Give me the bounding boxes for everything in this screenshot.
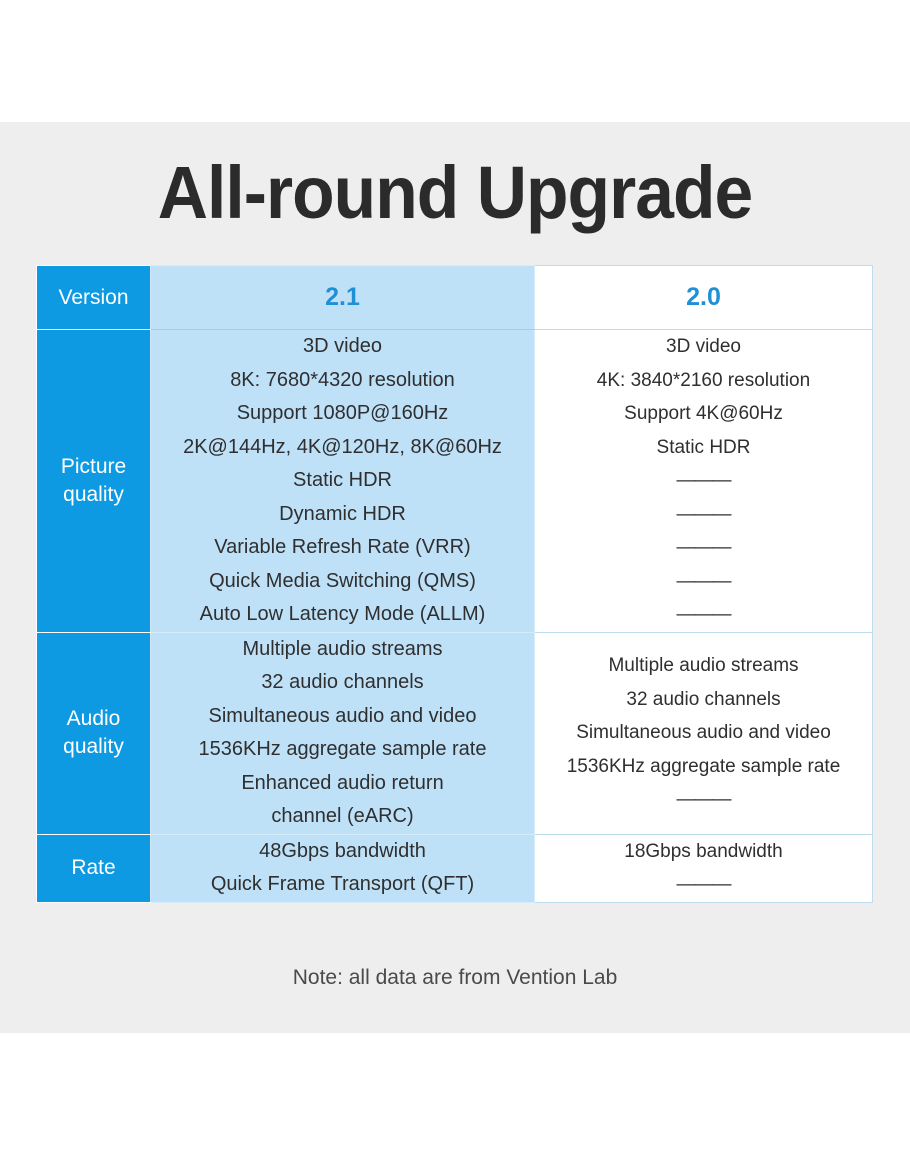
table-row: Audio quality Multiple audio streams 32 … (37, 632, 873, 834)
feature-line-empty: ——— (535, 868, 872, 902)
cell-picture-quality-v21: 3D video 8K: 7680*4320 resolution Suppor… (151, 330, 535, 633)
table-header-version-label: Version (37, 266, 151, 330)
table-header-v20: 2.0 (535, 266, 873, 330)
cell-rate-v21: 48Gbps bandwidth Quick Frame Transport (… (151, 834, 535, 902)
feature-line: Support 4K@60Hz (535, 397, 872, 431)
feature-line: Auto Low Latency Mode (ALLM) (151, 598, 534, 632)
feature-line: 3D video (535, 330, 872, 364)
row-label-line-1: Rate (37, 854, 150, 882)
feature-line-empty: ——— (535, 783, 872, 817)
feature-line: Dynamic HDR (151, 498, 534, 532)
feature-line: Support 1080P@160Hz (151, 397, 534, 431)
feature-line: 32 audio channels (535, 683, 872, 717)
row-label-audio-quality: Audio quality (37, 632, 151, 834)
row-label-picture-quality: Picture quality (37, 330, 151, 633)
table-header-v21: 2.1 (151, 266, 535, 330)
page-root: All-round Upgrade Version 2.1 2.0 Pictur… (0, 0, 910, 1155)
cell-audio-quality-v20: Multiple audio streams 32 audio channels… (535, 632, 873, 834)
feature-line: Simultaneous audio and video (151, 700, 534, 734)
feature-line: 32 audio channels (151, 666, 534, 700)
row-label-line-2: quality (37, 481, 150, 509)
feature-line: 1536KHz aggregate sample rate (151, 733, 534, 767)
feature-line: 2K@144Hz, 4K@120Hz, 8K@60Hz (151, 431, 534, 465)
feature-line: 18Gbps bandwidth (535, 835, 872, 869)
feature-line: Static HDR (151, 464, 534, 498)
feature-line: Multiple audio streams (535, 649, 872, 683)
feature-line: 1536KHz aggregate sample rate (535, 750, 872, 784)
feature-line: channel (eARC) (151, 800, 534, 834)
feature-line-empty: ——— (535, 598, 872, 632)
feature-line-empty: ——— (535, 498, 872, 532)
row-label-line-2: quality (37, 733, 150, 761)
feature-line: Simultaneous audio and video (535, 716, 872, 750)
table-footnote: Note: all data are from Vention Lab (0, 966, 910, 990)
feature-line: 3D video (151, 330, 534, 364)
cell-audio-quality-v21: Multiple audio streams 32 audio channels… (151, 632, 535, 834)
feature-line: 4K: 3840*2160 resolution (535, 364, 872, 398)
table-row: Picture quality 3D video 8K: 7680*4320 r… (37, 330, 873, 633)
cell-rate-v20: 18Gbps bandwidth ——— (535, 834, 873, 902)
feature-line: 8K: 7680*4320 resolution (151, 364, 534, 398)
feature-line-empty: ——— (535, 565, 872, 599)
table-header-row: Version 2.1 2.0 (37, 266, 873, 330)
feature-line: Multiple audio streams (151, 633, 534, 667)
page-title: All-round Upgrade (27, 152, 882, 234)
row-label-line-1: Audio (37, 705, 150, 733)
feature-line: Quick Media Switching (QMS) (151, 565, 534, 599)
row-label-line-1: Picture (37, 453, 150, 481)
feature-line: Variable Refresh Rate (VRR) (151, 531, 534, 565)
feature-line: Enhanced audio return (151, 767, 534, 801)
version-comparison-table: Version 2.1 2.0 Picture quality 3D video… (36, 265, 873, 903)
feature-line: Quick Frame Transport (QFT) (151, 868, 534, 902)
feature-line: Static HDR (535, 431, 872, 465)
feature-line: 48Gbps bandwidth (151, 835, 534, 869)
feature-line-empty: ——— (535, 464, 872, 498)
cell-picture-quality-v20: 3D video 4K: 3840*2160 resolution Suppor… (535, 330, 873, 633)
row-label-rate: Rate (37, 834, 151, 902)
table-row: Rate 48Gbps bandwidth Quick Frame Transp… (37, 834, 873, 902)
feature-line-empty: ——— (535, 531, 872, 565)
